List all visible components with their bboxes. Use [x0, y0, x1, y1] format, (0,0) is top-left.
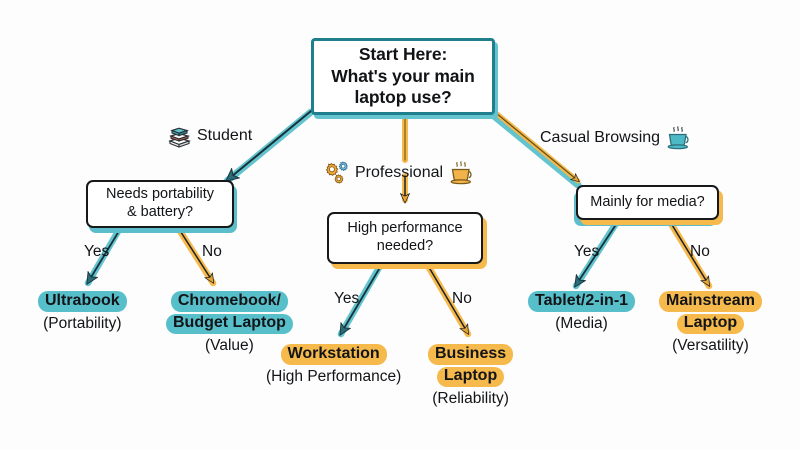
leaf-workstation[interactable]: Workstation (High Performance) [266, 344, 401, 385]
branch-label-casual-browsing-text: Casual Browsing [540, 129, 660, 147]
coffee-cup-teal-icon [665, 125, 693, 151]
node-casual-decision[interactable]: Mainly for media? [576, 185, 719, 220]
leaf-business-laptop-sub: (Reliability) [432, 390, 509, 407]
node-casual-decision-line-1: Mainly for media? [590, 194, 704, 212]
leaf-ultrabook[interactable]: Ultrabook (Portability) [38, 291, 127, 332]
node-start-line-3: laptop use? [331, 87, 475, 108]
books-icon [166, 124, 192, 148]
leaf-tablet-title: Tablet/2-in-1 [528, 291, 635, 312]
leaf-workstation-sub: (High Performance) [266, 368, 401, 385]
branch-label-casual-browsing: Casual Browsing [540, 125, 693, 151]
node-professional-decision-line-2: needed? [347, 238, 462, 256]
leaf-tablet-sub: (Media) [555, 315, 608, 332]
edge-label-student-yes: Yes [84, 243, 109, 261]
leaf-chromebook-title-2: Budget Laptop [166, 314, 293, 335]
flowchart-canvas: Start Here: What's your main laptop use?… [0, 0, 800, 450]
edge-label-professional-no: No [452, 290, 472, 308]
node-student-decision[interactable]: Needs portability & battery? [86, 180, 234, 228]
leaf-tablet[interactable]: Tablet/2-in-1 (Media) [528, 291, 635, 332]
node-start-line-2: What's your main [331, 66, 475, 87]
coffee-cup-orange-icon [448, 160, 476, 186]
leaf-mainstream[interactable]: Mainstream Laptop (Versatility) [659, 291, 762, 354]
leaf-business-laptop-title-1: Business [428, 344, 513, 365]
node-professional-decision[interactable]: High performance needed? [327, 212, 483, 264]
leaf-workstation-title: Workstation [281, 344, 387, 365]
leaf-business-laptop-title-2: Laptop [437, 367, 504, 388]
leaf-business-laptop[interactable]: Business Laptop (Reliability) [428, 344, 513, 407]
leaf-chromebook-title-1: Chromebook/ [171, 291, 288, 312]
edge-label-casual-yes: Yes [574, 243, 599, 261]
edge-label-casual-no: No [690, 243, 710, 261]
node-student-decision-line-1: Needs portability [106, 186, 214, 204]
leaf-mainstream-title-2: Laptop [677, 314, 744, 335]
branch-label-student-text: Student [197, 127, 252, 145]
node-start[interactable]: Start Here: What's your main laptop use? [311, 38, 495, 115]
leaf-mainstream-sub: (Versatility) [672, 337, 749, 354]
edge-label-student-no: No [202, 243, 222, 261]
leaf-ultrabook-sub: (Portability) [43, 315, 121, 332]
node-student-decision-line-2: & battery? [106, 204, 214, 222]
gears-icon [318, 160, 350, 186]
leaf-ultrabook-title: Ultrabook [38, 291, 127, 312]
leaf-mainstream-title-1: Mainstream [659, 291, 762, 312]
node-professional-decision-line-1: High performance [347, 220, 462, 238]
branch-label-student: Student [166, 124, 252, 148]
branch-label-professional: Professional [318, 160, 476, 186]
node-start-line-1: Start Here: [331, 44, 475, 65]
edge-label-professional-yes: Yes [334, 290, 359, 308]
leaf-chromebook-sub: (Value) [205, 337, 254, 354]
branch-label-professional-text: Professional [355, 164, 443, 182]
